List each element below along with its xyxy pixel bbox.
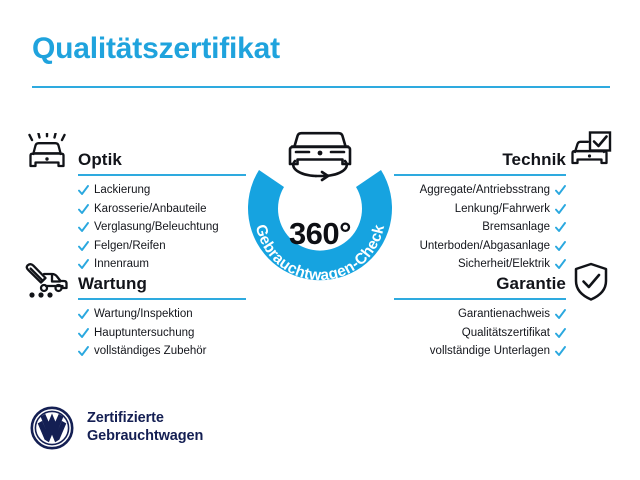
vw-logo: [30, 406, 74, 450]
checklist-technik: Aggregate/Antriebsstrang Lenkung/Fahrwer…: [394, 185, 566, 271]
title-divider: [32, 86, 610, 88]
list-item: Verglasung/Beleuchtung: [78, 222, 246, 234]
list-item: Qualitätszertifikat: [394, 328, 566, 340]
section-title-garantie: Garantie: [496, 274, 566, 294]
list-item: Innenraum: [78, 259, 246, 271]
car-wrench-icon: [24, 262, 70, 309]
section-header-garantie: Garantie: [394, 270, 566, 300]
check-icon: [555, 328, 566, 339]
section-divider-wartung: [78, 298, 246, 300]
car-rotation-icon: [290, 133, 350, 180]
360-check-badge: Gebrauchtwagen-Check 360°: [225, 120, 415, 310]
list-item: Wartung/Inspektion: [78, 309, 246, 321]
section-garantie: Garantie Garantienachweis Qualitätszerti…: [394, 270, 566, 365]
checklist-wartung: Wartung/Inspektion Hauptuntersuchung vol…: [78, 309, 246, 358]
check-icon: [555, 309, 566, 320]
car-checkbox-icon: [568, 131, 612, 178]
list-item-label: Hauptuntersuchung: [94, 328, 194, 340]
list-item-label: Aggregate/Antriebsstrang: [420, 185, 550, 197]
check-icon: [555, 241, 566, 252]
section-title-technik: Technik: [502, 150, 566, 170]
list-item: Hauptuntersuchung: [78, 328, 246, 340]
section-title-wartung: Wartung: [78, 274, 147, 294]
list-item-label: Karosserie/Anbauteile: [94, 204, 207, 216]
list-item: vollständige Unterlagen: [394, 346, 566, 358]
list-item: Aggregate/Antriebsstrang: [394, 185, 566, 197]
check-icon: [78, 259, 89, 270]
section-header-wartung: Wartung: [78, 270, 246, 300]
check-icon: [555, 346, 566, 357]
section-header-technik: Technik: [394, 146, 566, 176]
checklist-garantie: Garantienachweis Qualitätszertifikat vol…: [394, 309, 566, 358]
list-item-label: Unterboden/Abgasanlage: [420, 241, 550, 253]
list-item: Bremsanlage: [394, 222, 566, 234]
certificate-page: Qualitätszertifikat: [0, 0, 640, 480]
list-item: vollständiges Zubehör: [78, 346, 246, 358]
list-item: Garantienachweis: [394, 309, 566, 321]
section-divider-technik: [394, 174, 566, 176]
check-icon: [78, 309, 89, 320]
check-icon: [78, 241, 89, 252]
section-title-optik: Optik: [78, 150, 122, 170]
badge-center-label: 360°: [225, 216, 415, 252]
list-item-label: Bremsanlage: [482, 222, 550, 234]
brand-footer: Zertifizierte Gebrauchtwagen: [30, 406, 203, 450]
section-header-optik: Optik: [78, 146, 246, 176]
list-item-label: Felgen/Reifen: [94, 241, 166, 253]
check-icon: [78, 222, 89, 233]
check-icon: [78, 204, 89, 215]
list-item: Sicherheit/Elektrik: [394, 259, 566, 271]
list-item: Felgen/Reifen: [78, 241, 246, 253]
list-item-label: vollständige Unterlagen: [430, 346, 550, 358]
list-item: Karosserie/Anbauteile: [78, 204, 246, 216]
check-icon: [555, 222, 566, 233]
check-icon: [555, 259, 566, 270]
car-shine-icon: [24, 133, 70, 180]
list-item-label: Verglasung/Beleuchtung: [94, 222, 219, 234]
section-technik: Technik Aggregate/Antriebsstrang Lenkung…: [394, 146, 566, 278]
section-divider-optik: [78, 174, 246, 176]
list-item-label: Lenkung/Fahrwerk: [455, 204, 550, 216]
list-item-label: vollständiges Zubehör: [94, 346, 207, 358]
list-item: Lenkung/Fahrwerk: [394, 204, 566, 216]
list-item-label: Garantienachweis: [458, 309, 550, 321]
check-icon: [555, 185, 566, 196]
section-wartung: Wartung Wartung/Inspektion Hauptuntersuc…: [78, 270, 246, 365]
brand-name: Zertifizierte Gebrauchtwagen: [87, 410, 203, 445]
list-item-label: Innenraum: [94, 259, 149, 271]
check-icon: [555, 204, 566, 215]
list-item-label: Lackierung: [94, 185, 150, 197]
list-item-label: Wartung/Inspektion: [94, 309, 193, 321]
check-icon: [78, 185, 89, 196]
checklist-optik: Lackierung Karosserie/Anbauteile Verglas…: [78, 185, 246, 271]
list-item: Unterboden/Abgasanlage: [394, 241, 566, 253]
list-item-label: Sicherheit/Elektrik: [458, 259, 550, 271]
section-optik: Optik Lackierung Karosserie/Anbauteile V…: [78, 146, 246, 278]
check-icon: [78, 346, 89, 357]
page-title: Qualitätszertifikat: [32, 32, 280, 66]
check-icon: [78, 328, 89, 339]
section-divider-garantie: [394, 298, 566, 300]
brand-line-1: Zertifizierte: [87, 410, 203, 428]
list-item: Lackierung: [78, 185, 246, 197]
shield-check-icon: [573, 262, 609, 307]
brand-line-2: Gebrauchtwagen: [87, 428, 203, 446]
list-item-label: Qualitätszertifikat: [462, 328, 550, 340]
